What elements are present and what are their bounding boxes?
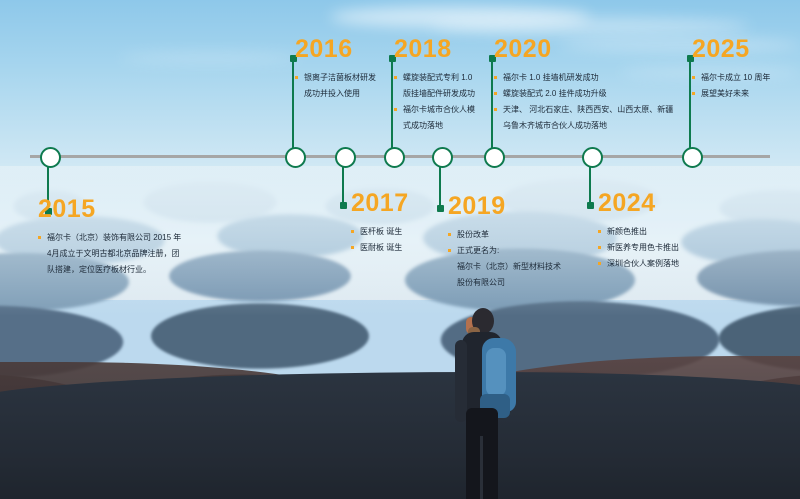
milestone-block-2016: 2016银离子洁菌板材研发成功并投入使用 xyxy=(295,37,405,103)
milestone-block-2015: 2015福尔卡（北京）装饰有限公司 2015 年4月成立于文明古都北京品牌注册，… xyxy=(38,197,228,279)
timeline-node-2024[interactable] xyxy=(582,147,603,168)
milestone-bullet-list-2015: 福尔卡（北京）装饰有限公司 2015 年4月成立于文明古都北京品牌注册，团队搭建… xyxy=(38,231,228,276)
milestone-bullet: 天津、 河北石家庄、陕西西安、山西太原、新疆 xyxy=(494,103,684,116)
timeline-node-2015[interactable] xyxy=(40,147,61,168)
hiker-figure xyxy=(444,308,536,499)
timeline-node-2020[interactable] xyxy=(484,147,505,168)
milestone-block-2020: 2020福尔卡 1.0 挂墙机研发成功螺旋装配式 2.0 挂件成功升级天津、 河… xyxy=(494,37,684,135)
cloud-icon xyxy=(430,18,750,34)
milestone-bullet: 新医养专用色卡推出 xyxy=(598,241,728,254)
milestone-year-2017: 2017 xyxy=(351,191,461,216)
hiker-arm xyxy=(455,340,467,422)
infographic-stage: 2015福尔卡（北京）装饰有限公司 2015 年4月成立于文明古都北京品牌注册，… xyxy=(0,0,800,499)
timeline-node-2025[interactable] xyxy=(682,147,703,168)
hiker-leg-gap xyxy=(480,436,483,499)
milestone-bullet: 螺旋装配式 2.0 挂件成功升级 xyxy=(494,87,684,100)
cloud-icon xyxy=(120,52,300,64)
milestone-year-2015: 2015 xyxy=(38,197,228,222)
milestone-bullet: 版挂墙配件研发成功 xyxy=(394,87,509,100)
milestone-block-2018: 2018螺旋装配式专利 1.0版挂墙配件研发成功福尔卡城市合伙人模式成功落地 xyxy=(394,37,509,135)
milestone-bullet-list-2025: 福尔卡成立 10 周年展望美好未来 xyxy=(692,71,800,100)
milestone-bullet: 福尔卡城市合伙人模 xyxy=(394,103,509,116)
timeline-stem-2025 xyxy=(689,55,692,155)
backpack-panel xyxy=(486,348,506,396)
milestone-block-2024: 2024新颜色推出新医养专用色卡推出深圳合伙人案例落地 xyxy=(598,191,728,273)
milestone-year-2019: 2019 xyxy=(448,194,598,219)
milestone-bullet: 式成功落地 xyxy=(394,119,509,132)
milestone-bullet: 医杆板 诞生 xyxy=(351,225,461,238)
milestone-bullet: 福尔卡 1.0 挂墙机研发成功 xyxy=(494,71,684,84)
milestone-bullet-list-2024: 新颜色推出新医养专用色卡推出深圳合伙人案例落地 xyxy=(598,225,728,270)
milestone-bullet: 展望美好未来 xyxy=(692,87,800,100)
milestone-bullet: 福尔卡（北京）装饰有限公司 2015 年 xyxy=(38,231,228,244)
milestone-bullet-list-2017: 医杆板 诞生医耐板 诞生 xyxy=(351,225,461,254)
milestone-block-2017: 2017医杆板 诞生医耐板 诞生 xyxy=(351,191,461,257)
milestone-bullet: 4月成立于文明古都北京品牌注册，团 xyxy=(38,247,228,260)
milestone-bullet: 银离子洁菌板材研发 xyxy=(295,71,405,84)
milestone-bullet: 福尔卡（北京）新型材料技术 xyxy=(448,260,598,273)
milestone-year-2025: 2025 xyxy=(692,37,800,62)
milestone-bullet: 正式更名为: xyxy=(448,244,598,257)
milestone-bullet: 螺旋装配式专利 1.0 xyxy=(394,71,509,84)
milestone-bullet-list-2018: 螺旋装配式专利 1.0版挂墙配件研发成功福尔卡城市合伙人模式成功落地 xyxy=(394,71,509,132)
milestone-bullet: 队搭建，定位医疗板材行业。 xyxy=(38,263,228,276)
milestone-bullet: 新颜色推出 xyxy=(598,225,728,238)
milestone-block-2025: 2025福尔卡成立 10 周年展望美好未来 xyxy=(692,37,800,103)
milestone-bullet: 乌鲁木齐城市合伙人成功落地 xyxy=(494,119,684,132)
milestone-bullet: 股份改革 xyxy=(448,228,598,241)
milestone-year-2016: 2016 xyxy=(295,37,405,62)
timeline-node-2019[interactable] xyxy=(432,147,453,168)
milestone-bullet-list-2019: 股份改革正式更名为:福尔卡（北京）新型材料技术股份有限公司 xyxy=(448,228,598,289)
milestone-bullet-list-2020: 福尔卡 1.0 挂墙机研发成功螺旋装配式 2.0 挂件成功升级天津、 河北石家庄… xyxy=(494,71,684,132)
milestone-year-2018: 2018 xyxy=(394,37,509,62)
milestone-bullet-list-2016: 银离子洁菌板材研发成功并投入使用 xyxy=(295,71,405,100)
milestone-bullet: 医耐板 诞生 xyxy=(351,241,461,254)
milestone-bullet: 深圳合伙人案例落地 xyxy=(598,257,728,270)
timeline-node-2018[interactable] xyxy=(384,147,405,168)
timeline-stem-2016 xyxy=(292,55,295,155)
milestone-year-2020: 2020 xyxy=(494,37,684,62)
milestone-bullet: 福尔卡成立 10 周年 xyxy=(692,71,800,84)
milestone-bullet: 成功并投入使用 xyxy=(295,87,405,100)
timeline-node-2016[interactable] xyxy=(285,147,306,168)
milestone-block-2019: 2019股份改革正式更名为:福尔卡（北京）新型材料技术股份有限公司 xyxy=(448,194,598,292)
milestone-year-2024: 2024 xyxy=(598,191,728,216)
milestone-bullet: 股份有限公司 xyxy=(448,276,598,289)
stem-cap-dot-icon xyxy=(340,202,347,209)
ridge-foreground xyxy=(0,372,800,499)
timeline-node-2017[interactable] xyxy=(335,147,356,168)
